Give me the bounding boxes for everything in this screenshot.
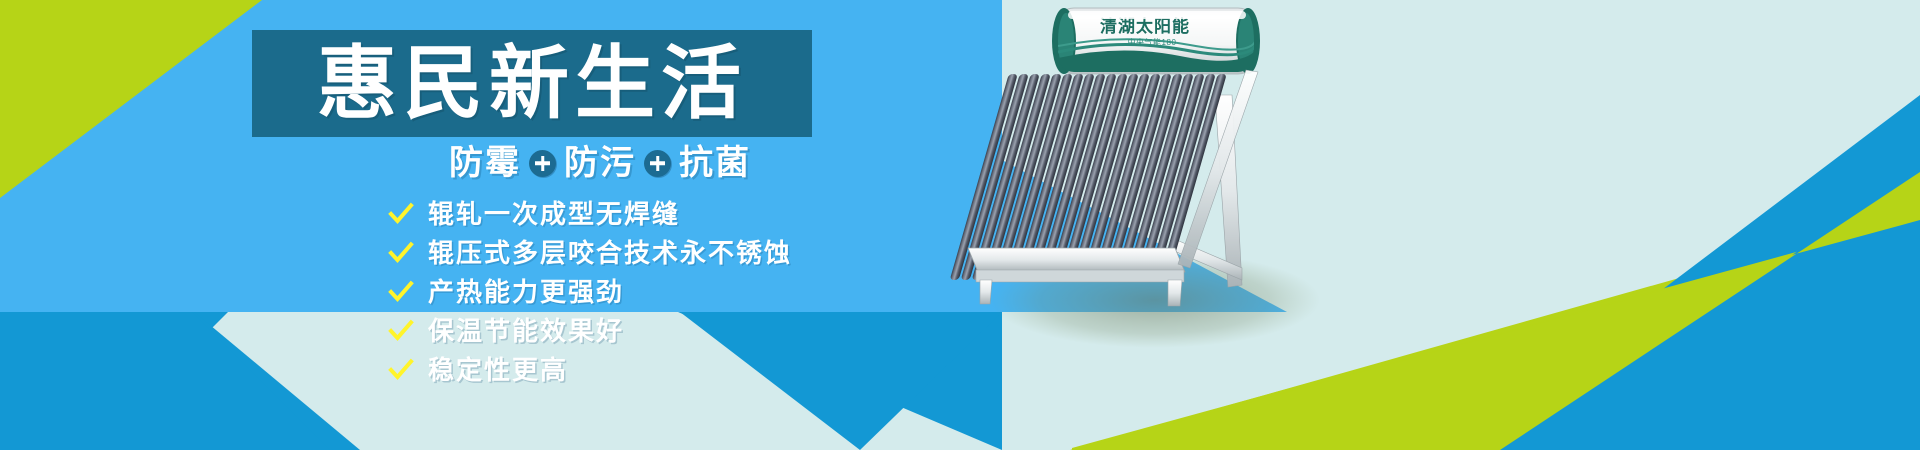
check-icon <box>388 318 414 344</box>
check-icon <box>388 240 414 266</box>
solar-water-heater-image: 清湖太阳能 中央气能180 <box>940 0 1380 360</box>
list-item: 产热能力更强劲 <box>388 274 792 309</box>
feature-label: 辊压式多层咬合技术永不锈蚀 <box>428 240 792 266</box>
subtitle-row: 防霉 防污 抗菌 <box>380 140 820 186</box>
list-item: 保温节能效果好 <box>388 313 792 348</box>
subtitle-word-2: 防污 <box>564 146 636 180</box>
check-icon <box>388 279 414 305</box>
subtitle-word-3: 抗菌 <box>679 146 751 180</box>
plus-icon <box>644 150 671 177</box>
plus-icon <box>529 150 556 177</box>
feature-label: 产热能力更强劲 <box>428 279 624 305</box>
feature-label: 辊轧一次成型无焊缝 <box>428 201 680 227</box>
page-title: 惠民新生活 <box>317 44 747 124</box>
feature-label: 稳定性更高 <box>428 357 568 383</box>
check-icon <box>388 201 414 227</box>
tank: 清湖太阳能 中央气能180 <box>1052 8 1260 74</box>
list-item: 稳定性更高 <box>388 352 792 387</box>
feature-list: 辊轧一次成型无焊缝 辊压式多层咬合技术永不锈蚀 产热能力更强劲 保温节能效果好 <box>388 196 792 387</box>
title-block: 惠民新生活 <box>252 30 812 137</box>
tank-sub-text: 中央气能180 <box>1128 37 1177 47</box>
check-icon <box>388 357 414 383</box>
feature-label: 保温节能效果好 <box>428 318 624 344</box>
list-item: 辊轧一次成型无焊缝 <box>388 196 792 231</box>
subtitle-word-1: 防霉 <box>449 146 521 180</box>
list-item: 辊压式多层咬合技术永不锈蚀 <box>388 235 792 270</box>
promo-banner: 清湖太阳能 中央气能180 <box>0 0 1920 450</box>
